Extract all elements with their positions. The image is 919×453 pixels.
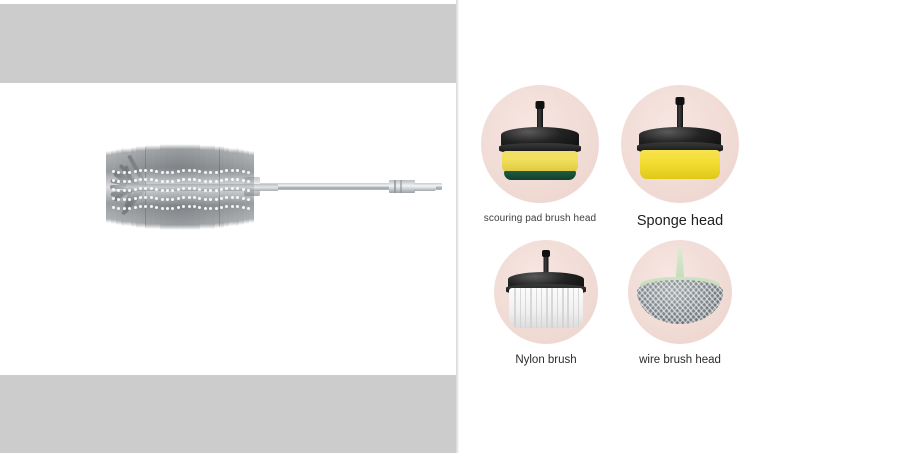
head-yellow-sponge (502, 151, 578, 173)
nylon-bristle-line (557, 288, 559, 328)
brush-highlight-dot (123, 171, 126, 174)
brush-highlight-dot (161, 180, 164, 183)
brush-highlight-dot (204, 207, 207, 210)
brush-bristle-column (131, 147, 136, 227)
brush-highlight-dot (188, 205, 191, 208)
brush-highlight-dot (177, 188, 180, 191)
attachment-label: wire brush head (615, 354, 745, 366)
brush-highlight-dot (177, 179, 180, 182)
brush-highlight-dot (112, 188, 115, 191)
attachment-photo-disc (628, 240, 732, 344)
brush-highlight-dot (112, 197, 115, 200)
head-steel-mesh (637, 280, 723, 324)
nylon-bristle-line (567, 288, 569, 328)
nylon-bristle-line (530, 288, 532, 328)
nylon-bristle-line (551, 288, 553, 328)
head-stem-knob (536, 101, 545, 109)
left-product-image-panel (0, 0, 456, 453)
attachment-label: Sponge head (615, 213, 745, 229)
nylon-bristle-line (578, 288, 580, 328)
brush-highlight-dot (128, 189, 131, 192)
brush-highlight-dot (128, 180, 131, 183)
brush-highlight-dot (231, 169, 234, 172)
brush-highlight-dot (215, 180, 218, 183)
nylon-bristle-line (536, 288, 538, 328)
brush-highlight-dot (161, 189, 164, 192)
brush-highlight-dot (220, 206, 223, 209)
brush-highlight-dot (215, 189, 218, 192)
brush-highlight-dot (215, 207, 218, 210)
brush-highlight-dot (231, 187, 234, 190)
brush-highlight-dot (123, 180, 126, 183)
brush-highlight-dot (161, 207, 164, 210)
brush-bristle-cylinder (106, 144, 254, 230)
brush-highlight-dot (215, 171, 218, 174)
brush-highlight-dot (220, 188, 223, 191)
attachment-photo-disc (621, 85, 739, 203)
head-stem-knob (542, 250, 550, 257)
attachment-label: scouring pad brush head (475, 213, 605, 224)
nylon-bristle-line (525, 288, 527, 328)
brush-highlight-dot (123, 198, 126, 201)
brush-highlight-dot (112, 170, 115, 173)
brush-highlight-dot (204, 171, 207, 174)
brush-highlight-dot (161, 198, 164, 201)
brush-highlight-dot (220, 179, 223, 182)
nylon-bristle-line (541, 288, 543, 328)
brush-highlight-dot (204, 198, 207, 201)
brush-highlight-dot (134, 170, 137, 173)
brush-bristle-column (205, 145, 210, 229)
brush-highlight-dot (112, 179, 115, 182)
brush-highlight-dot (231, 196, 234, 199)
brush-highlight-dot (177, 197, 180, 200)
brush-highlight-dot (123, 189, 126, 192)
brush-highlight-dot (112, 206, 115, 209)
attachment-photo-disc (481, 85, 599, 203)
brush-highlight-dot (231, 178, 234, 181)
brush-highlight-dot (134, 197, 137, 200)
brush-shaft-tip (414, 183, 436, 191)
nylon-bristle-line (562, 288, 564, 328)
letterbox-band-bottom (0, 375, 456, 453)
brush-highlight-dot (231, 205, 234, 208)
bottle-brush-illustration (84, 138, 434, 238)
head-yellow-sponge (640, 150, 720, 179)
right-product-detail-panel: scouring pad brush head Sponge head (459, 0, 919, 453)
brush-highlight-dot (204, 180, 207, 183)
brush-highlight-dot (128, 171, 131, 174)
brush-highlight-dot (204, 189, 207, 192)
attachment-photo-disc (494, 240, 598, 344)
brush-highlight-dot (188, 187, 191, 190)
letterbox-band-top (0, 4, 456, 83)
brush-highlight-dot (177, 206, 180, 209)
attachment-sponge-head[interactable]: Sponge head (615, 85, 745, 229)
brush-highlight-dot (220, 170, 223, 173)
screenshot-canvas: scouring pad brush head Sponge head (0, 0, 919, 453)
brush-highlight-dot (177, 170, 180, 173)
brush-bristle-column (249, 151, 254, 223)
head-nylon-bristles (509, 288, 583, 328)
attachment-nylon-brush[interactable]: Nylon brush (481, 240, 611, 366)
attachment-grid: scouring pad brush head Sponge head (475, 85, 743, 385)
brush-highlight-dot (215, 198, 218, 201)
brush-bristle-column (200, 145, 205, 230)
attachment-wire-brush-head[interactable]: wire brush head (615, 240, 745, 366)
head-stem-knob (676, 97, 685, 105)
brush-highlight-dot (220, 197, 223, 200)
brush-highlight-dot (128, 198, 131, 201)
brush-highlight-dot (134, 188, 137, 191)
brush-highlight-dot (123, 207, 126, 210)
brush-highlight-dot (134, 179, 137, 182)
brush-bristle-column (126, 148, 131, 227)
brush-bristle-column (210, 145, 215, 228)
attachment-scouring-pad-brush-head[interactable]: scouring pad brush head (475, 85, 605, 224)
head-green-scour-pad (504, 171, 576, 180)
nylon-bristle-line (520, 288, 522, 328)
nylon-bristle-line (573, 288, 575, 328)
attachment-label: Nylon brush (481, 354, 611, 366)
brush-hex-drive (389, 180, 415, 193)
brush-highlight-dot (188, 169, 191, 172)
brush-highlight-dot (188, 196, 191, 199)
brush-highlight-dot (161, 171, 164, 174)
brush-highlight-dot (128, 207, 131, 210)
brush-highlight-dot (188, 178, 191, 181)
nylon-bristle-line (514, 288, 516, 328)
nylon-bristle-line (546, 288, 548, 328)
brush-highlight-dot (134, 206, 137, 209)
